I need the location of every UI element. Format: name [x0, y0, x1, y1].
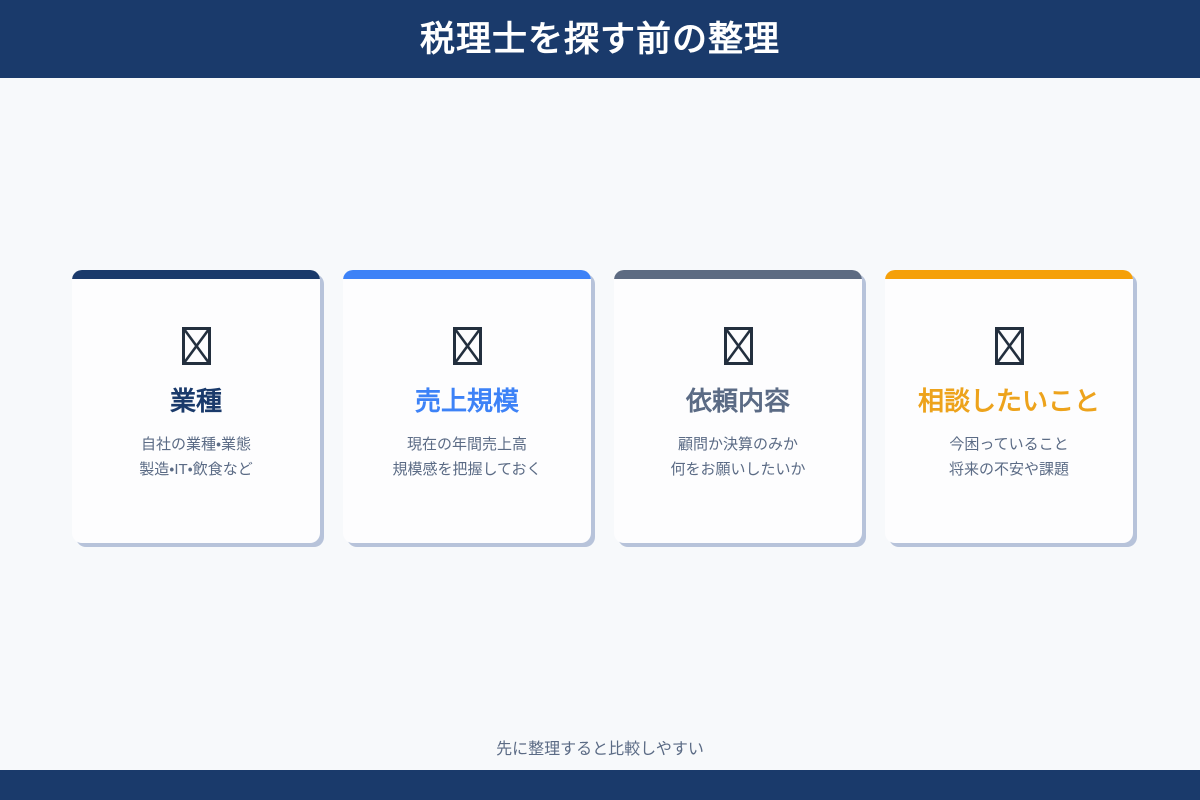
card-accent-bar	[885, 270, 1133, 279]
page-footer-bar	[0, 770, 1200, 800]
card-uriage-kibo[interactable]: 売上規模 現在の年間売上高 規模感を把握しておく	[343, 270, 591, 543]
footer-caption: 先に整理すると比較しやすい	[0, 742, 1200, 758]
card-row: 業種 自社の業種・業態 製造・IT・飲食など 売上規模 現在の年間売上高 規模感…	[72, 270, 1133, 548]
card-description: 自社の業種・業態 製造・IT・飲食など	[139, 432, 253, 482]
missing-glyph-box-icon	[724, 327, 753, 365]
card-title: 相談したいこと	[918, 387, 1100, 416]
card-title: 売上規模	[415, 387, 519, 416]
card-sodan-shitai-koto[interactable]: 相談したいこと 今困っていること 将来の不安や課題	[885, 270, 1133, 543]
missing-glyph-box-icon	[182, 327, 211, 365]
card-description: 現在の年間売上高 規模感を把握しておく	[392, 432, 541, 482]
missing-glyph-box-icon	[453, 327, 482, 365]
card-accent-bar	[614, 270, 862, 279]
card-irai-naiyo[interactable]: 依頼内容 顧問か決算のみか 何をお願いしたいか	[614, 270, 862, 543]
page-title: 税理士を探す前の整理	[420, 22, 780, 57]
card-body: 売上規模 現在の年間売上高 規模感を把握しておく	[343, 279, 591, 543]
card-body: 依頼内容 顧問か決算のみか 何をお願いしたいか	[614, 279, 862, 543]
missing-glyph-box-icon	[995, 327, 1024, 365]
card-description: 今困っていること 将来の不安や課題	[949, 432, 1069, 482]
card-description: 顧問か決算のみか 何をお願いしたいか	[670, 432, 805, 482]
card-gyoshu[interactable]: 業種 自社の業種・業態 製造・IT・飲食など	[72, 270, 320, 543]
card-accent-bar	[72, 270, 320, 279]
card-accent-bar	[343, 270, 591, 279]
card-title: 依頼内容	[686, 387, 790, 416]
card-title: 業種	[170, 387, 222, 416]
card-body: 相談したいこと 今困っていること 将来の不安や課題	[885, 279, 1133, 543]
card-body: 業種 自社の業種・業態 製造・IT・飲食など	[72, 279, 320, 543]
page-header: 税理士を探す前の整理	[0, 0, 1200, 78]
content-stage: 業種 自社の業種・業態 製造・IT・飲食など 売上規模 現在の年間売上高 規模感…	[0, 78, 1200, 770]
